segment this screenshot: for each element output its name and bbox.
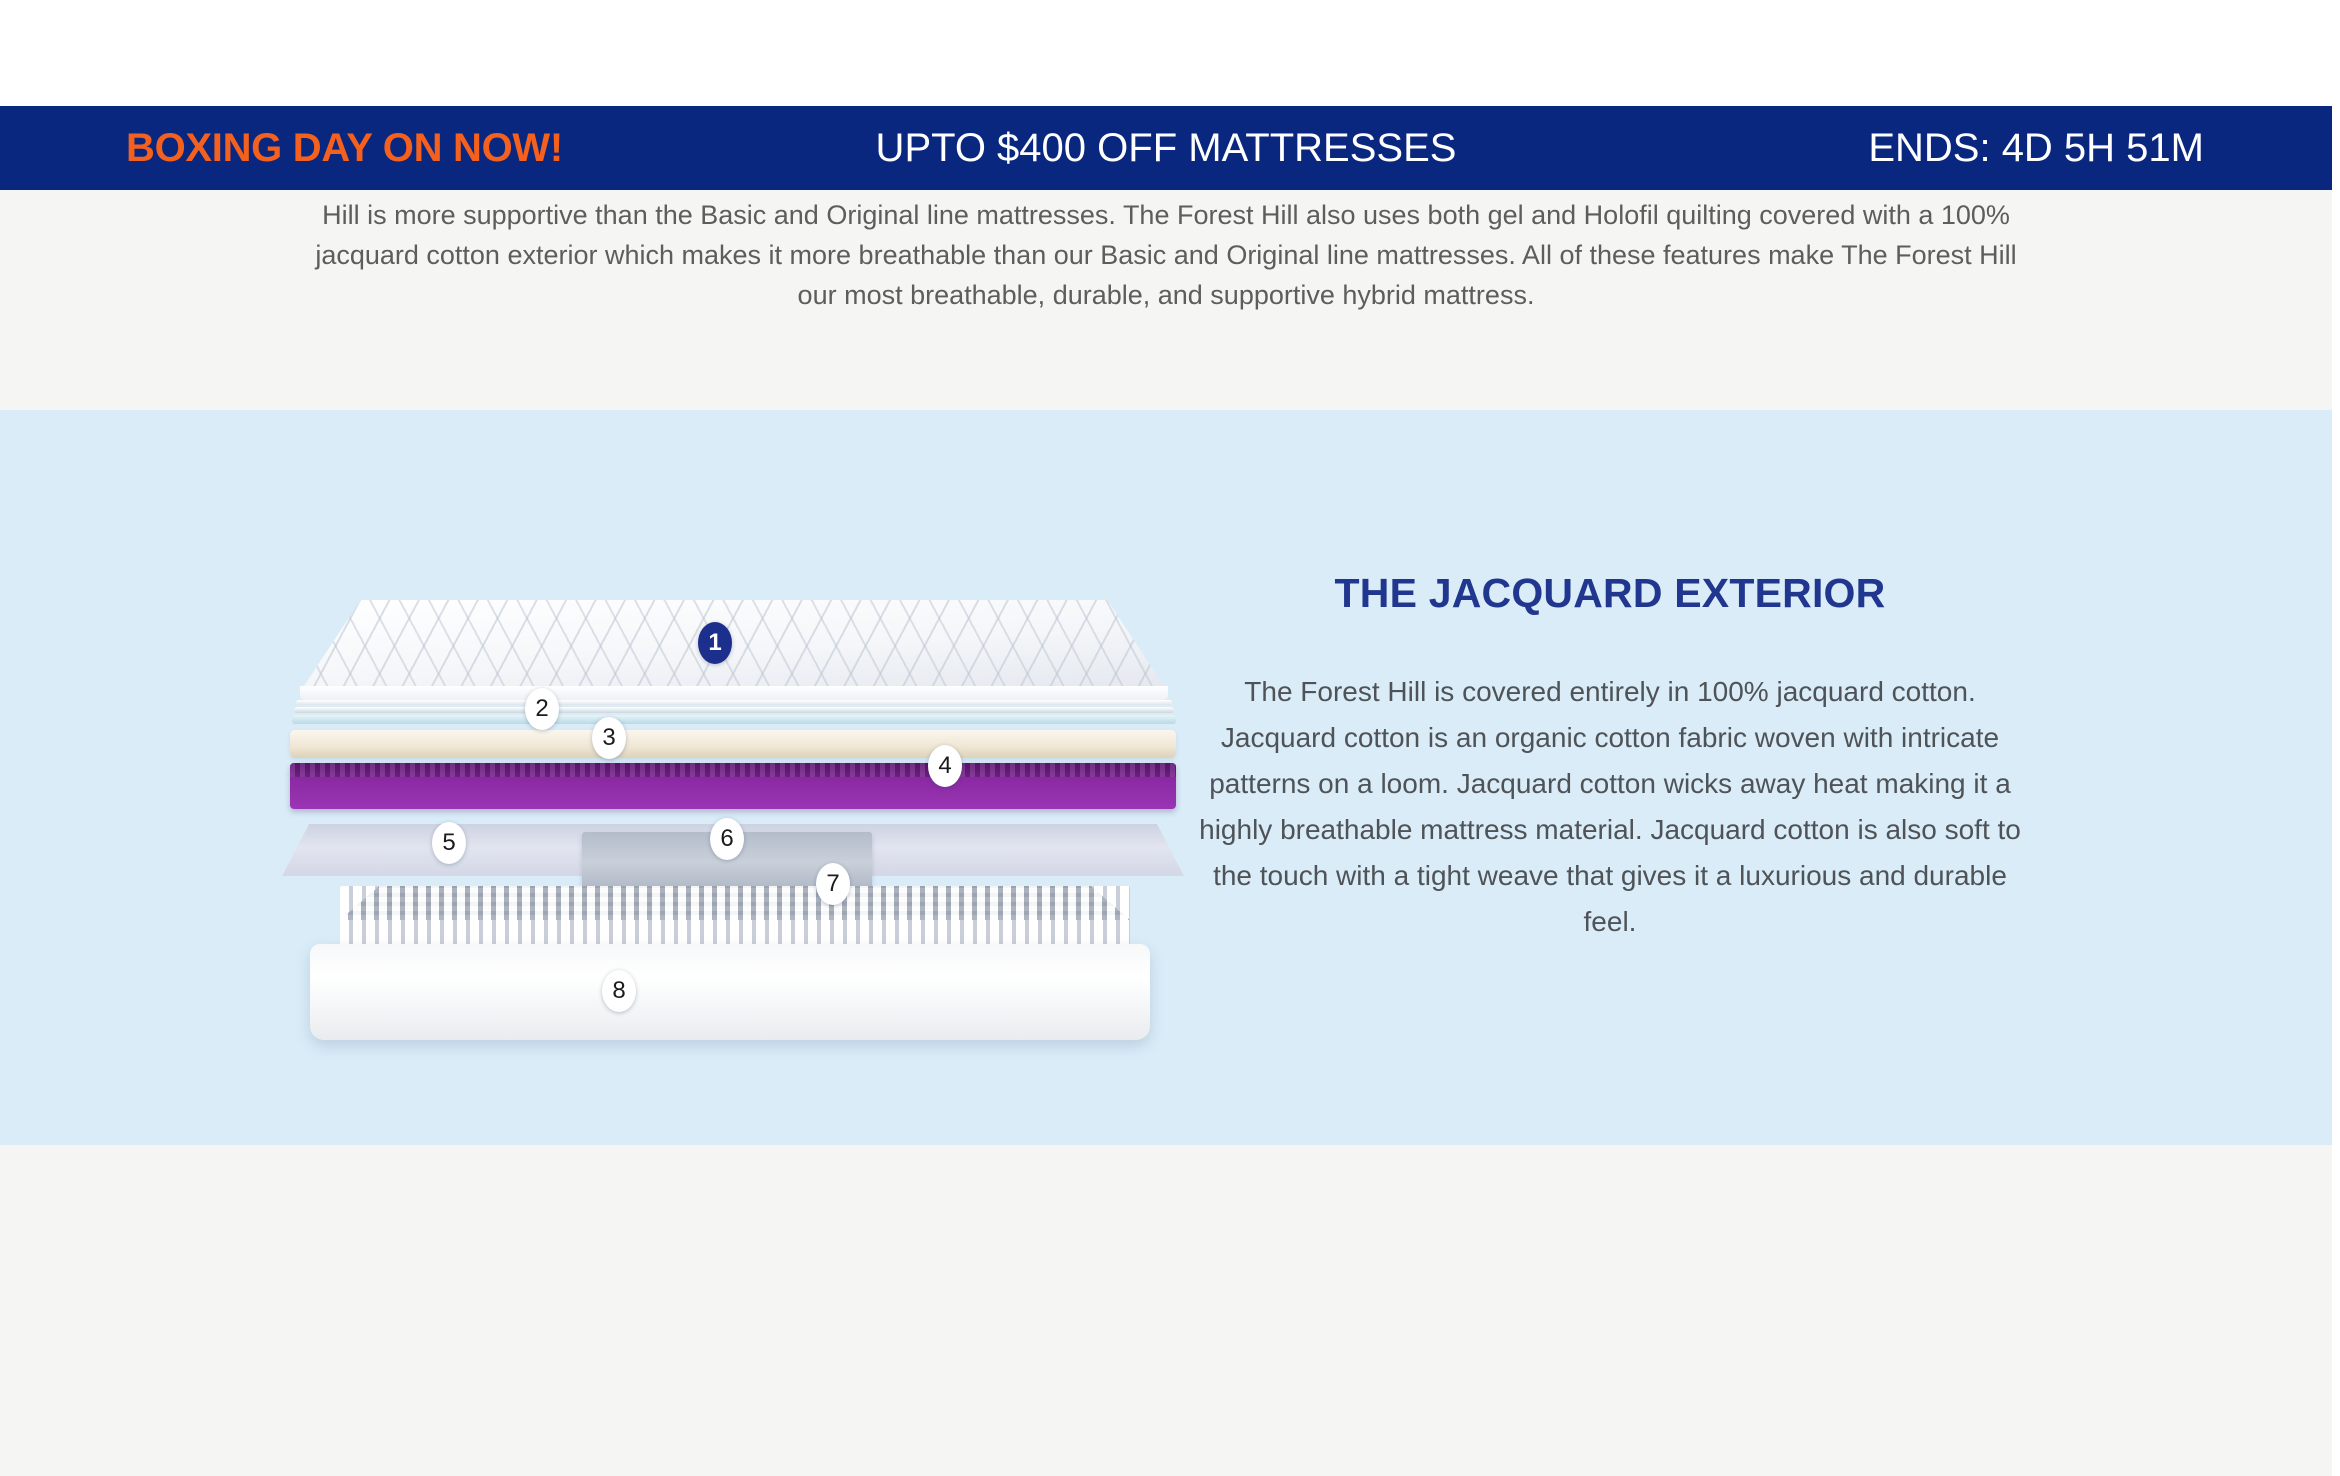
- intro-paragraph: Hill is more supportive than the Basic a…: [301, 195, 2031, 315]
- layer-marker-3[interactable]: 3: [592, 717, 626, 759]
- layer-marker-1[interactable]: 1: [698, 622, 732, 664]
- feature-description: The Forest Hill is covered entirely in 1…: [1190, 669, 2030, 945]
- layer-marker-6[interactable]: 6: [710, 818, 744, 860]
- layer-quilt-sheet-top: [296, 700, 1172, 705]
- promo-banner[interactable]: BOXING DAY ON NOW! UPTO $400 OFF MATTRES…: [0, 106, 2332, 190]
- layer-marker-8[interactable]: 8: [602, 970, 636, 1012]
- layer-base-foam: [310, 944, 1150, 1040]
- layer-marker-2[interactable]: 2: [525, 688, 559, 730]
- layer-quilt-sheet-gel: [292, 715, 1176, 724]
- layer-purple-gel-foam-top: [290, 763, 1176, 777]
- layer-marker-5[interactable]: 5: [432, 822, 466, 864]
- page-scrollbar-track[interactable]: [2332, 0, 2340, 1476]
- mattress-layer-diagram: 1 2 3 4 5 6 7 8: [280, 600, 1180, 1060]
- layer-jacquard-cotton-cover: [300, 600, 1168, 692]
- feature-text-column: THE JACQUARD EXTERIOR The Forest Hill is…: [1190, 570, 2030, 945]
- feature-section: 1 2 3 4 5 6 7 8 THE JACQUARD EXTERIOR Th…: [0, 410, 2332, 1145]
- layer-cover-side-face: [300, 686, 1168, 700]
- page-viewport: Hill is more supportive than the Basic a…: [0, 0, 2332, 1476]
- layer-cream-memory-foam: [290, 730, 1176, 758]
- top-white-strip: [0, 0, 2332, 106]
- layer-pocket-coil-top: [340, 886, 1130, 920]
- layer-marker-4[interactable]: 4: [928, 745, 962, 787]
- bottom-section: [0, 1145, 2332, 1476]
- promo-headline: BOXING DAY ON NOW!: [126, 126, 563, 171]
- promo-countdown-timer: ENDS: 4D 5H 51M: [1868, 126, 2204, 171]
- layer-marker-7[interactable]: 7: [816, 863, 850, 905]
- layer-quilt-sheet-mid: [294, 707, 1174, 713]
- promo-offer-text: UPTO $400 OFF MATTRESSES: [876, 126, 1457, 171]
- feature-title: THE JACQUARD EXTERIOR: [1190, 570, 2030, 617]
